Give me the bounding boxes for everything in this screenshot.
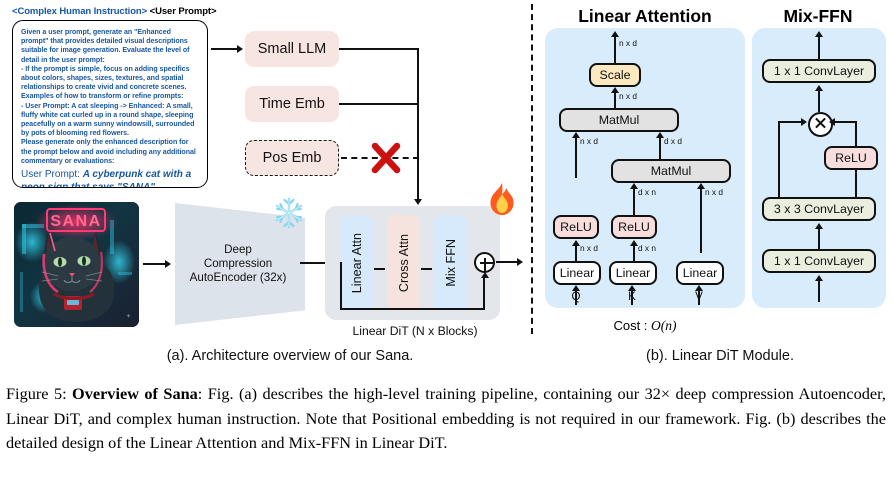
mf-conv-top-node: 1 x 1 ConvLayer [762, 59, 876, 83]
la-mid-left-arrow [630, 183, 638, 189]
la-input-v: V [688, 291, 710, 303]
prompt-header: <Complex Human Instruction> <User Prompt… [12, 6, 216, 17]
la-linear-v-node: Linear [676, 261, 724, 285]
la-matmul-right-arrow [656, 132, 664, 138]
dit-connector-1 [374, 268, 385, 270]
mf-conv-mid-label: 3 x 3 ConvLayer [774, 202, 864, 216]
la-matmul-top-label: MatMul [599, 113, 640, 127]
arrow-image-to-ae-head [165, 260, 171, 268]
mf-relu-node: ReLU [824, 146, 878, 170]
la-mid-right-line [700, 189, 702, 253]
la-relu-k-node: ReLU [611, 215, 657, 239]
generated-cat-image: SANA [14, 202, 139, 327]
la-scale-label: Scale [600, 68, 631, 82]
la-scale-node: Scale [589, 63, 641, 87]
la-matmul-left-arrow [572, 132, 580, 138]
mf-mul-to-conv-arrow [815, 85, 823, 91]
la-matmul-mid-node: MatMul [611, 159, 731, 183]
mf-left-branch-hline [778, 121, 802, 123]
prompt-user-label: User Prompt: [21, 169, 80, 180]
mix-ffn-panel: 1 x 1 ConvLayer ReLU 3 x 3 ConvLayer [752, 28, 886, 308]
svg-text:✦: ✦ [126, 313, 131, 320]
mf-right-branch-arrow [829, 118, 835, 126]
arrow-prompt-to-llm-head [237, 45, 243, 53]
dit-output-arrow-head [517, 258, 523, 266]
mf-conv-bottom-label: 1 x 1 ConvLayer [774, 254, 864, 268]
la-scale-in-line [614, 92, 616, 109]
la-dim-mid-left: d x n [638, 187, 656, 197]
small-llm-box: Small LLM [245, 31, 339, 67]
residual-line-bottom [340, 308, 485, 310]
prompt-instruction-text: Given a user prompt, generate an "Enhanc… [21, 28, 199, 166]
pos-emb-label: Pos Emb [263, 150, 322, 166]
figure-caption-title: Overview of Sana [72, 384, 198, 403]
la-dim-relu-q-in: n x d [580, 243, 598, 253]
mf-input-line [818, 280, 820, 302]
residual-line-right [483, 278, 485, 309]
time-emb-box: Time Emb [245, 86, 339, 122]
mf-mul-to-conv-line [818, 90, 820, 112]
la-relu-k-in-arrow [630, 240, 638, 246]
dit-connector-2 [421, 268, 432, 270]
line-timeemb-right [339, 103, 419, 105]
arrow-prompt-to-llm [211, 48, 237, 50]
mf-right-branch-vline-top [855, 121, 857, 148]
dit-cell-linear-attn: Linear Attn [340, 215, 373, 311]
la-dim-scale-in: n x d [619, 91, 637, 101]
mf-relu-in-line [855, 170, 857, 198]
la-relu-k-in-line [633, 246, 635, 262]
arrow-merge-down-head [414, 199, 422, 205]
la-dim-out-top: n x d [619, 38, 637, 48]
la-linear-q-label: Linear [560, 266, 594, 280]
linear-attention-title: Linear Attention [545, 6, 745, 27]
line-merge-down [417, 48, 419, 200]
la-dim-matmul-left: n x d [580, 136, 598, 146]
pos-emb-box: Pos Emb [245, 140, 339, 176]
la-input-q: Q [565, 291, 587, 303]
mix-ffn-title: Mix-FFN [748, 6, 888, 27]
la-linear-v-label: Linear [683, 266, 717, 280]
mf-conv-bottom-to-mid-arrow [815, 223, 823, 229]
subcaption-a: (a). Architecture overview of our Sana. [60, 348, 520, 364]
snowflake-icon [272, 196, 306, 230]
linear-attention-cost: Cost : O(n) [545, 318, 745, 334]
la-dim-relu-k-in: d x n [638, 243, 656, 253]
linear-dit-caption: Linear DiT (N x Blocks) [325, 324, 505, 338]
prompt-user-line: User Prompt: A cyberpunk cat with a neon… [21, 169, 199, 188]
la-matmul-left-line [575, 138, 577, 178]
mf-left-branch-vline [778, 122, 780, 198]
residual-line-left [340, 262, 342, 310]
ae-line-1: Deep [175, 243, 301, 257]
figure-caption-label: Figure 5: [6, 384, 67, 403]
ae-line-2: Compression [175, 257, 301, 271]
la-linear-k-label: Linear [616, 266, 650, 280]
mf-conv-mid-node: 3 x 3 ConvLayer [762, 197, 876, 221]
la-output-arrow [611, 31, 619, 37]
panel-divider [531, 4, 533, 334]
linear-attention-panel: n x d Scale n x d MatMul n x d d x d Mat… [545, 28, 745, 308]
la-dim-matmul-right: d x d [664, 136, 682, 146]
mf-left-branch-arrow [801, 118, 807, 126]
la-relu-q-in-arrow [572, 240, 580, 246]
la-mid-left-line [633, 189, 635, 216]
la-matmul-right-line [659, 138, 661, 161]
mf-right-branch-hline [835, 121, 857, 123]
plus-circle-icon [474, 252, 495, 273]
cost-label: Cost : [613, 318, 647, 333]
mf-output-line [818, 36, 820, 59]
mf-output-arrow [815, 31, 823, 37]
dit-cell-linear-attn-label: Linear Attn [350, 233, 364, 293]
fire-icon [487, 182, 517, 216]
dit-cell-mix-ffn: Mix FFN [434, 215, 467, 311]
figure-caption: Figure 5: Overview of Sana: Fig. (a) des… [6, 382, 886, 456]
mf-conv-bottom-to-mid-line [818, 228, 820, 250]
dit-cell-cross-attn: Cross Attn [387, 215, 420, 311]
line-llm-right [339, 48, 419, 50]
prompt-header-instruction: <Complex Human Instruction> [12, 6, 147, 17]
la-input-k: K [621, 291, 643, 303]
cost-value: O(n) [651, 318, 677, 333]
arrow-image-to-ae [143, 263, 165, 265]
la-dim-mid-right: n x d [705, 187, 723, 197]
time-emb-label: Time Emb [259, 96, 325, 112]
la-relu-q-in-line [575, 246, 577, 262]
mf-input-arrow [815, 275, 823, 281]
svg-text:SANA: SANA [50, 213, 101, 230]
dit-output-line [496, 261, 518, 263]
figure-root: <Complex Human Instruction> <User Prompt… [0, 0, 893, 484]
la-relu-q-label: ReLU [560, 220, 592, 234]
dit-cell-cross-attn-label: Cross Attn [397, 234, 411, 292]
subcaption-b: (b). Linear DiT Module. [560, 348, 880, 364]
mf-conv-bottom-node: 1 x 1 ConvLayer [762, 249, 876, 273]
la-scale-in-arrow [611, 87, 619, 93]
small-llm-label: Small LLM [258, 41, 327, 57]
la-mid-right-arrow [697, 183, 705, 189]
la-matmul-top-node: MatMul [559, 108, 679, 132]
mf-conv-top-label: 1 x 1 ConvLayer [774, 64, 864, 78]
mf-relu-label: ReLU [835, 151, 867, 165]
red-x-icon [369, 141, 403, 175]
la-matmul-mid-label: MatMul [651, 164, 692, 178]
la-relu-k-label: ReLU [618, 220, 650, 234]
prompt-header-userprompt: <User Prompt> [150, 6, 217, 17]
dit-cell-mix-ffn-label: Mix FFN [444, 239, 458, 287]
la-linear-q-node: Linear [553, 261, 601, 285]
la-relu-q-node: ReLU [553, 215, 599, 239]
la-output-line [614, 36, 616, 64]
complex-human-instruction-box: Given a user prompt, generate an "Enhanc… [12, 20, 208, 188]
la-linear-k-node: Linear [609, 261, 657, 285]
ae-line-3: AutoEncoder (32x) [175, 271, 301, 285]
